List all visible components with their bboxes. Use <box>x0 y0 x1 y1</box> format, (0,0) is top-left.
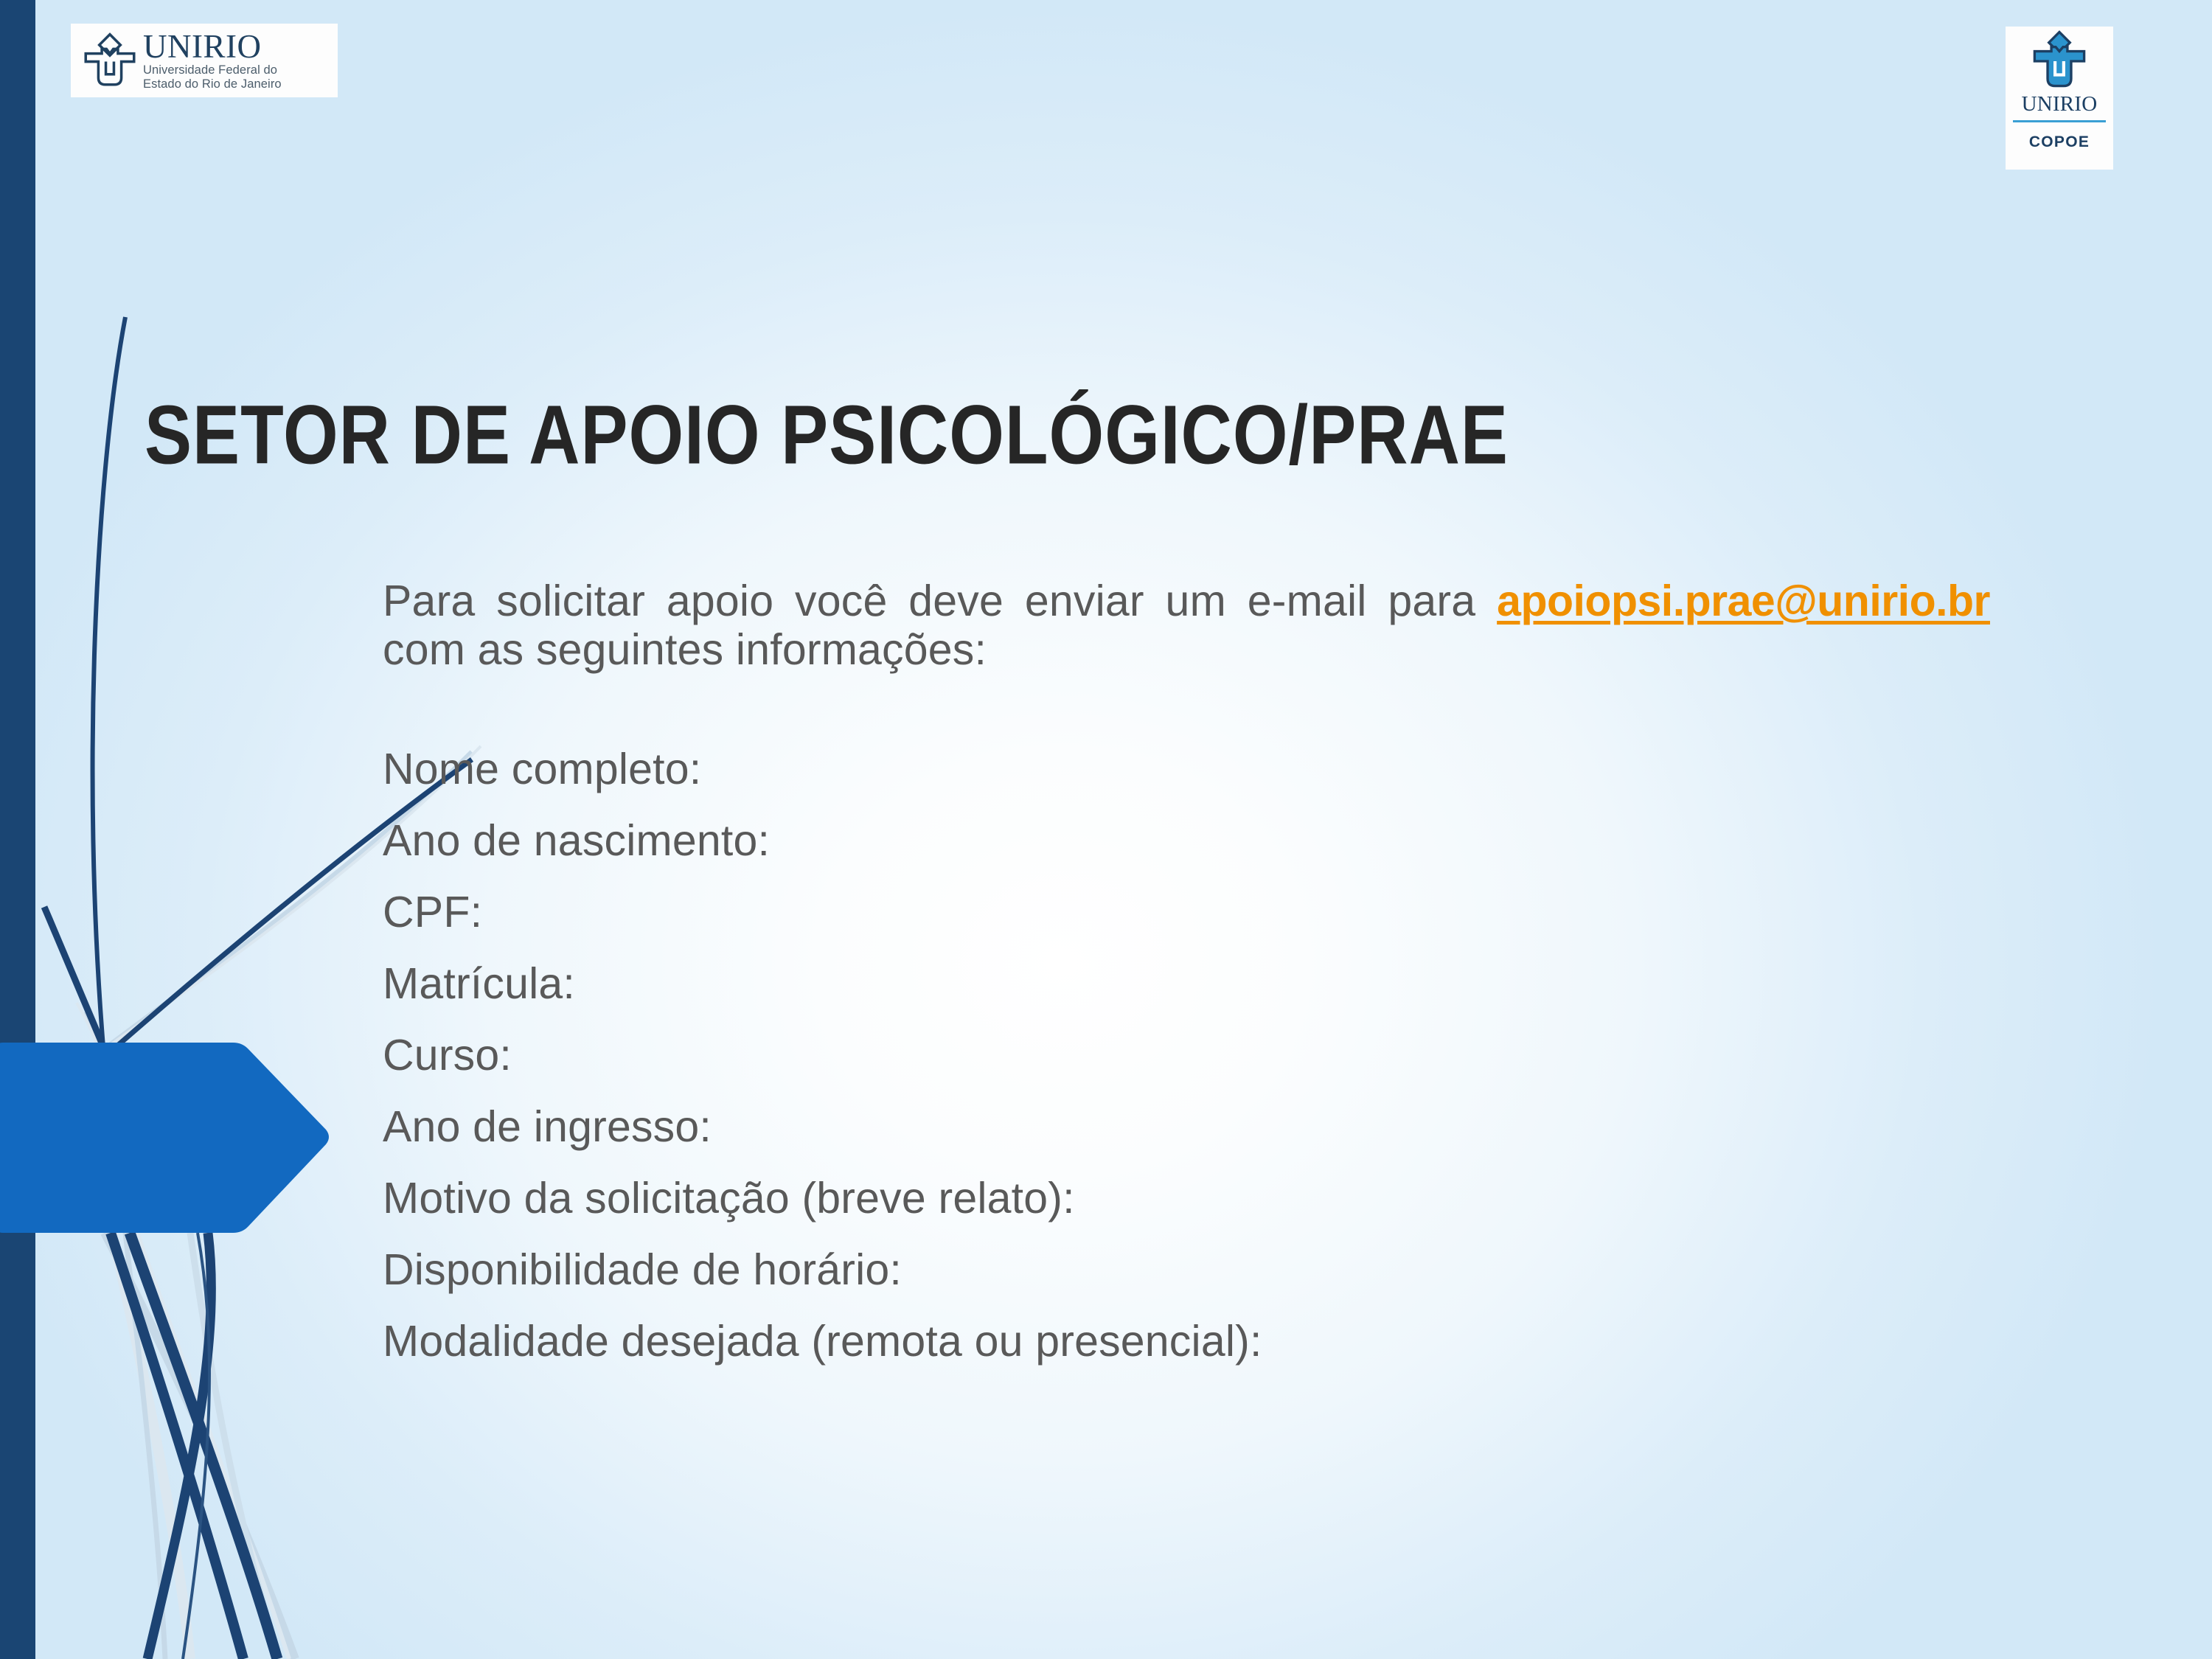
list-item: CPF: <box>383 891 1990 934</box>
list-item: Ano de nascimento: <box>383 819 1990 863</box>
main-content: Para solicitar apoio você deve enviar um… <box>383 577 1990 1391</box>
logo-copoe-unit-label: COPOE <box>2029 133 2090 151</box>
unirio-crest-icon <box>81 32 139 89</box>
support-email-link[interactable]: apoiopsi.prae@unirio.br <box>1497 577 1990 625</box>
list-item: Motivo da solicitação (breve relato): <box>383 1177 1990 1220</box>
list-item: Curso: <box>383 1034 1990 1077</box>
logo-copoe-divider <box>2013 120 2106 122</box>
left-accent-bar <box>0 0 35 1659</box>
intro-paragraph: Para solicitar apoio você deve enviar um… <box>383 577 1990 674</box>
list-item: Nome completo: <box>383 748 1990 791</box>
logo-copoe: UNIRIO COPOE <box>2006 27 2113 170</box>
list-item: Modalidade desejada (remota ou presencia… <box>383 1320 1990 1363</box>
unirio-crest-icon <box>2028 29 2090 93</box>
blue-arrow-shape <box>0 1043 332 1233</box>
logo-unirio: UNIRIO Universidade Federal do Estado do… <box>71 24 338 97</box>
slide-canvas: UNIRIO Universidade Federal do Estado do… <box>0 0 2212 1659</box>
logo-unirio-subtitle-line1: Universidade Federal do <box>143 63 282 77</box>
required-fields-list: Nome completo: Ano de nascimento: CPF: M… <box>383 748 1990 1363</box>
logo-copoe-wordmark: UNIRIO <box>2022 94 2098 115</box>
logo-unirio-wordmark: UNIRIO <box>143 30 282 63</box>
page-title: SETOR DE APOIO PSICOLÓGICO/PRAE <box>145 394 2135 477</box>
intro-prefix-text: Para solicitar apoio você deve enviar um… <box>383 577 1475 625</box>
list-item: Disponibilidade de horário: <box>383 1248 1990 1292</box>
intro-suffix-text: com as seguintes informações: <box>383 625 987 674</box>
logo-unirio-subtitle-line2: Estado do Rio de Janeiro <box>143 77 282 91</box>
list-item: Matrícula: <box>383 962 1990 1006</box>
list-item: Ano de ingresso: <box>383 1105 1990 1149</box>
